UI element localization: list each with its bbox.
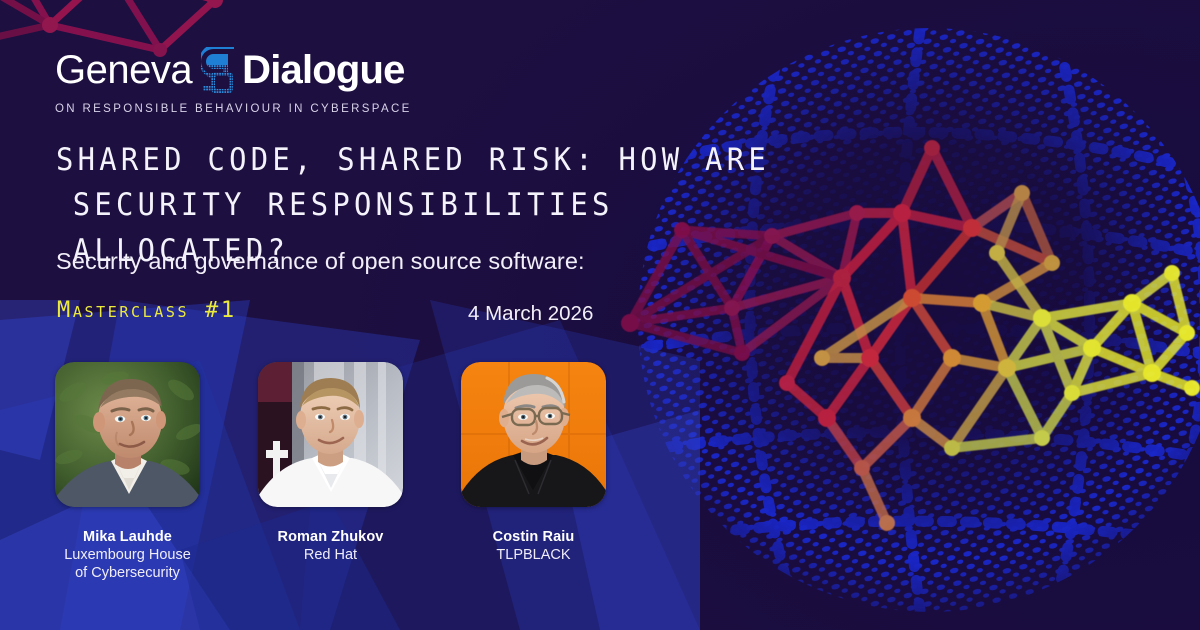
portrait-costin-raiu [461,362,606,507]
masterclass-number: #1 [205,298,237,323]
speaker-card: Costin Raiu TLPBLACK [461,362,606,583]
speaker-name: Roman Zhukov [278,528,384,546]
masterclass-word: Masterclass [57,298,189,323]
logo-word-geneva: Geneva [55,50,192,90]
brand-logo: Geneva Dialogue O [55,46,412,115]
pixel-g-icon [201,47,235,93]
poster-canvas: Geneva Dialogue O [0,0,1200,630]
portrait-mika-lauhde [55,362,200,507]
speaker-org: Red Hat [304,547,357,565]
speaker-name: Costin Raiu [493,528,575,546]
speaker-org: Luxembourg House of Cybersecurity [64,547,191,582]
event-subtitle: Security and governance of open source s… [56,248,585,275]
speaker-list: Mika Lauhde Luxembourg House of Cybersec… [55,362,606,583]
logo-word-dialogue: Dialogue [242,50,405,90]
speaker-card: Mika Lauhde Luxembourg House of Cybersec… [55,362,200,583]
event-date: 4 March 2026 [468,302,593,326]
headline-line-1: Shared code, shared risk: How are [56,142,770,178]
logo-tagline: ON RESPONSIBLE BEHAVIOUR IN CYBERSPACE [55,103,412,115]
speaker-org: TLPBLACK [496,547,570,565]
speaker-card: Roman Zhukov Red Hat [258,362,403,583]
speaker-name: Mika Lauhde [83,528,172,546]
portrait-roman-zhukov [258,362,403,507]
logo-wordmark: Geneva Dialogue [55,46,412,94]
masterclass-label: Masterclass #1 [57,298,237,323]
